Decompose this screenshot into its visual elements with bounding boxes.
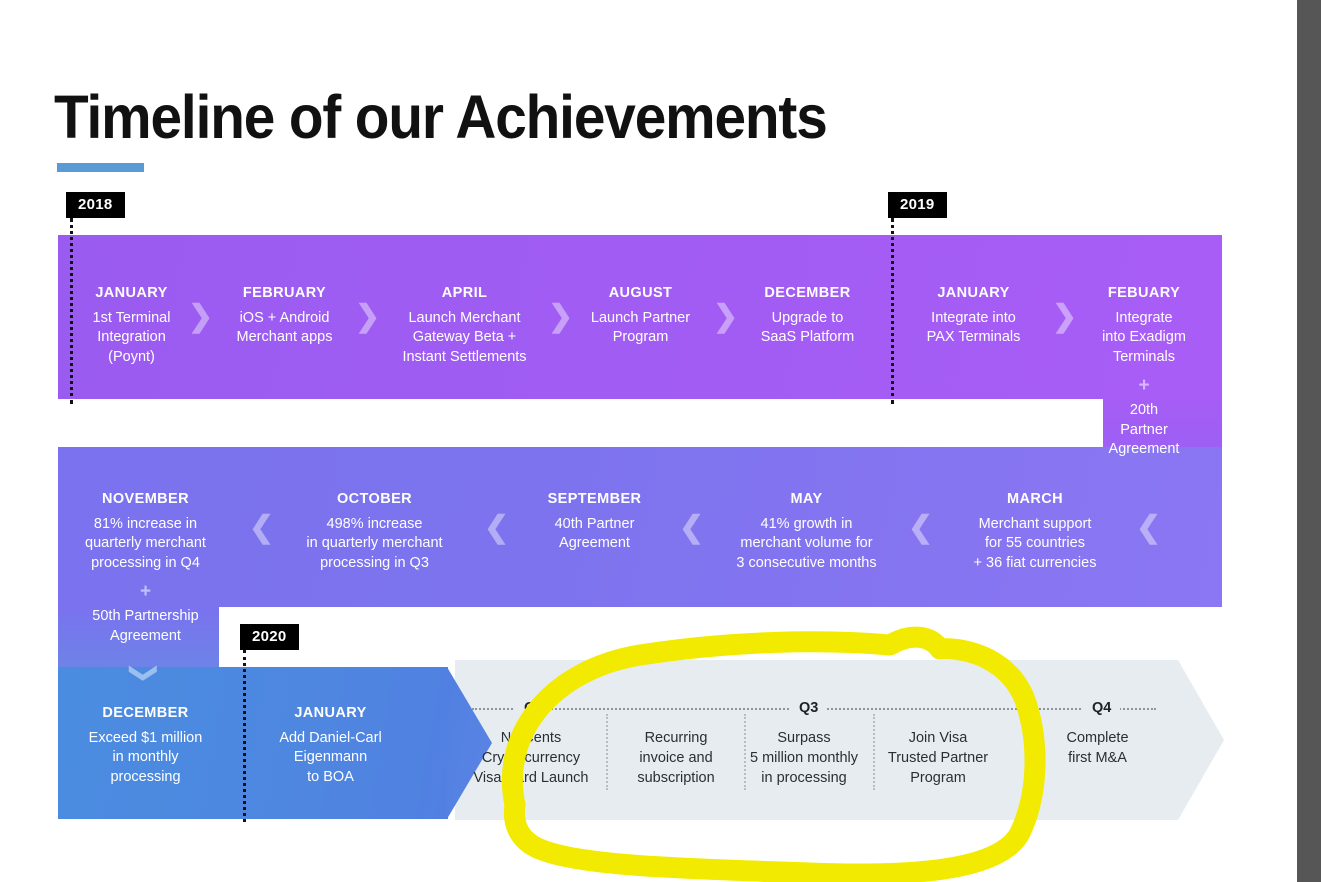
chevron-down-icon: ❯ bbox=[131, 661, 159, 684]
chevron-right-icon: ❯ bbox=[188, 302, 213, 332]
quarter-divider bbox=[1035, 714, 1037, 790]
milestone-desc: 1st TerminalIntegration(Poynt) bbox=[66, 309, 197, 368]
milestone-desc: 498% increasein quarterly merchantproces… bbox=[288, 515, 461, 574]
milestone-desc: iOS + AndroidMerchant apps bbox=[219, 309, 350, 348]
chevron-right-icon: ❯ bbox=[355, 302, 380, 332]
milestone-cell: MARCH Merchant supportfor 55 countries+ … bbox=[946, 490, 1124, 573]
year-badge-2019: 2019 bbox=[888, 192, 947, 218]
quarter-cell: NetCentsCryptocurrencyVisa Card Launch bbox=[466, 728, 596, 788]
milestone-plus-icon: + bbox=[78, 582, 213, 601]
quarter-desc: Surpass5 million monthlyin processing bbox=[740, 728, 868, 788]
quarter-label-q4: Q4 bbox=[1083, 700, 1120, 716]
milestone-desc: 81% increase inquarterly merchantprocess… bbox=[78, 515, 213, 574]
milestone-cell: DECEMBER Upgrade toSaaS Platform bbox=[742, 284, 873, 348]
milestone-month: OCTOBER bbox=[288, 490, 461, 510]
quarter-divider bbox=[606, 714, 608, 790]
milestone-cell: JANUARY 1st TerminalIntegration(Poynt) bbox=[66, 284, 197, 367]
quarter-cell: Join VisaTrusted PartnerProgram bbox=[875, 728, 1001, 788]
year-badge-2018: 2018 bbox=[66, 192, 125, 218]
milestone-month: JANUARY bbox=[66, 284, 197, 304]
milestone-cell: FEBRUARY iOS + AndroidMerchant apps bbox=[219, 284, 350, 348]
milestone-desc: Launch PartnerProgram bbox=[575, 309, 706, 348]
quarter-desc: NetCentsCryptocurrencyVisa Card Launch bbox=[466, 728, 596, 788]
quarter-label-q3: Q3 bbox=[790, 700, 827, 716]
quarter-desc: Join VisaTrusted PartnerProgram bbox=[875, 728, 1001, 788]
milestone-cell: MAY 41% growth inmerchant volume for3 co… bbox=[719, 490, 894, 573]
window-scrollbar-track[interactable] bbox=[1297, 0, 1321, 882]
milestone-desc: Exceed $1 millionin monthlyprocessing bbox=[78, 729, 213, 788]
chevron-right-icon: ❯ bbox=[548, 302, 573, 332]
chevron-left-icon: ❮ bbox=[1136, 513, 1161, 543]
milestone-month: FEBUARY bbox=[1080, 284, 1208, 304]
milestone-month: APRIL bbox=[383, 284, 546, 304]
chevron-right-icon: ❯ bbox=[1052, 302, 1077, 332]
title-underline-rule bbox=[57, 163, 144, 172]
year-dotted-line-2018 bbox=[70, 218, 73, 404]
year-dotted-line-2019 bbox=[891, 218, 894, 404]
milestone-desc: Integrate intoPAX Terminals bbox=[908, 309, 1039, 348]
milestone-month: DECEMBER bbox=[742, 284, 873, 304]
quarter-cell: Completefirst M&A bbox=[1040, 728, 1155, 768]
milestone-desc: Launch MerchantGateway Beta +Instant Set… bbox=[383, 309, 546, 368]
quarter-divider bbox=[873, 714, 875, 790]
quarter-divider bbox=[744, 714, 746, 790]
milestone-desc: Upgrade toSaaS Platform bbox=[742, 309, 873, 348]
chevron-left-icon: ❮ bbox=[249, 513, 274, 543]
milestone-month: NOVEMBER bbox=[78, 490, 213, 510]
milestone-cell: NOVEMBER 81% increase inquarterly mercha… bbox=[78, 490, 213, 646]
quarter-desc: Recurringinvoice andsubscription bbox=[616, 728, 736, 788]
milestone-desc: 41% growth inmerchant volume for3 consec… bbox=[719, 515, 894, 574]
milestone-desc: Integrateinto ExadigmTerminals bbox=[1080, 309, 1208, 368]
quarter-cell: Surpass5 million monthlyin processing bbox=[740, 728, 868, 788]
milestone-extra: 50th PartnershipAgreement bbox=[78, 607, 213, 646]
milestone-month: SEPTEMBER bbox=[523, 490, 666, 510]
chevron-left-icon: ❮ bbox=[679, 513, 704, 543]
milestone-desc: Add Daniel-CarlEigenmannto BOA bbox=[262, 729, 399, 788]
milestone-month: AUGUST bbox=[575, 284, 706, 304]
milestone-cell: JANUARY Integrate intoPAX Terminals bbox=[908, 284, 1039, 348]
milestone-cell: FEBUARY Integrateinto ExadigmTerminals +… bbox=[1080, 284, 1208, 460]
milestone-cell: DECEMBER Exceed $1 millionin monthlyproc… bbox=[78, 704, 213, 787]
chevron-left-icon: ❮ bbox=[908, 513, 933, 543]
milestone-month: FEBRUARY bbox=[219, 284, 350, 304]
milestone-month: MAY bbox=[719, 490, 894, 510]
milestone-desc: Merchant supportfor 55 countries+ 36 fia… bbox=[946, 515, 1124, 574]
milestone-month: MARCH bbox=[946, 490, 1124, 510]
quarter-cell: Recurringinvoice andsubscription bbox=[616, 728, 736, 788]
chevron-left-icon: ❮ bbox=[484, 513, 509, 543]
page-title: Timeline of our Achievements bbox=[54, 82, 827, 152]
year-badge-2020: 2020 bbox=[240, 624, 299, 650]
slide-canvas: Timeline of our Achievements 2018 2019 2… bbox=[0, 0, 1295, 882]
milestone-extra: 20thPartnerAgreement bbox=[1080, 401, 1208, 460]
milestone-month: DECEMBER bbox=[78, 704, 213, 724]
milestone-plus-icon: + bbox=[1080, 376, 1208, 395]
milestone-cell: APRIL Launch MerchantGateway Beta +Insta… bbox=[383, 284, 546, 367]
milestone-month: JANUARY bbox=[262, 704, 399, 724]
milestone-cell: SEPTEMBER 40th PartnerAgreement bbox=[523, 490, 666, 554]
milestone-cell: OCTOBER 498% increasein quarterly mercha… bbox=[288, 490, 461, 573]
milestone-desc: 40th PartnerAgreement bbox=[523, 515, 666, 554]
year-dotted-line-2020 bbox=[243, 650, 246, 822]
chevron-right-icon: ❯ bbox=[713, 302, 738, 332]
milestone-month: JANUARY bbox=[908, 284, 1039, 304]
milestone-cell: JANUARY Add Daniel-CarlEigenmannto BOA bbox=[262, 704, 399, 787]
milestone-cell: AUGUST Launch PartnerProgram bbox=[575, 284, 706, 348]
quarter-desc: Completefirst M&A bbox=[1040, 728, 1155, 768]
quarter-label-q2: Q2 bbox=[515, 700, 552, 716]
